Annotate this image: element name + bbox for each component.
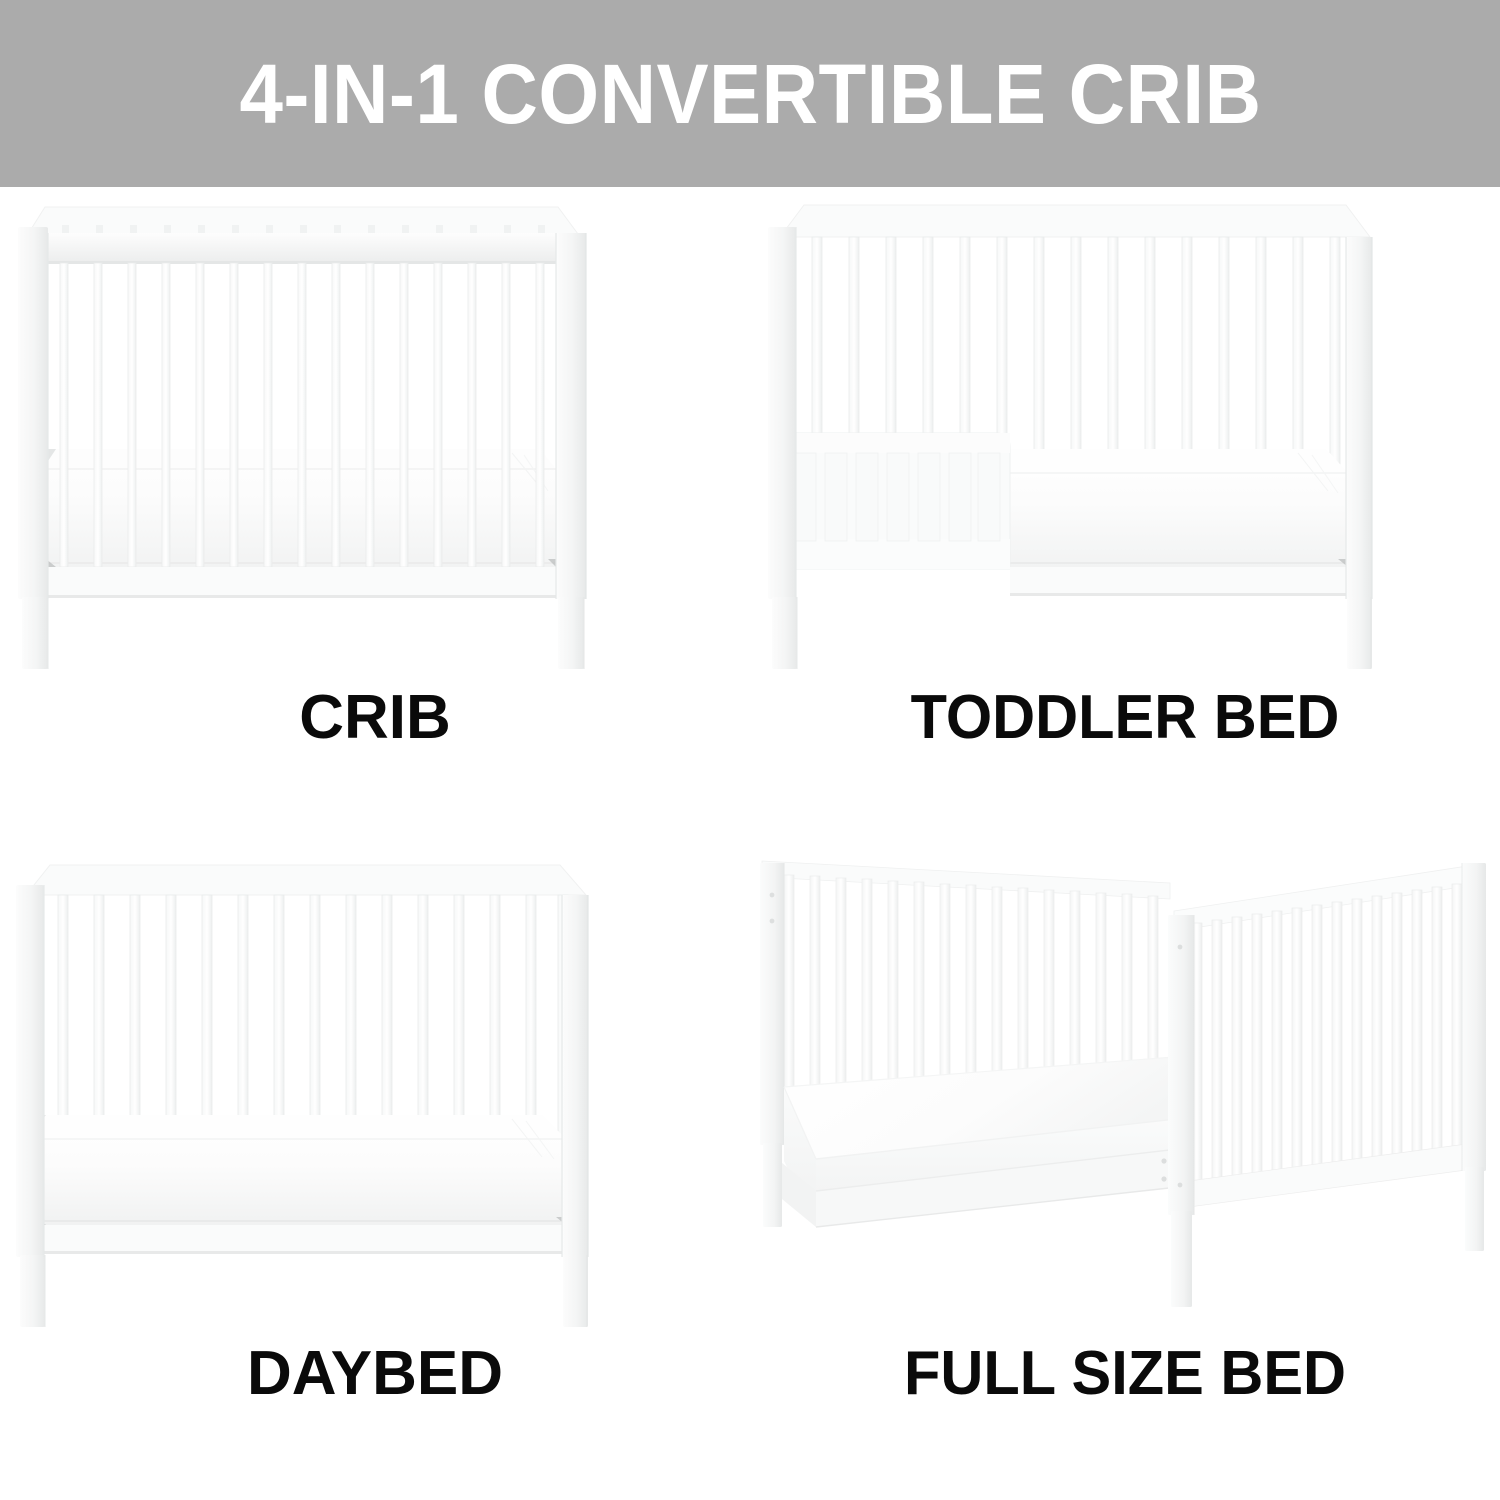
toddler-bed-illustration — [750, 187, 1500, 687]
full-size-bed-illustration — [750, 843, 1500, 1343]
caption-toddler-bed: TODDLER BED — [765, 687, 1485, 749]
configuration-grid: CRIB — [0, 187, 1500, 1500]
caption-crib: CRIB — [0, 687, 750, 749]
full-bed-footboard — [1168, 863, 1486, 1307]
caption-full-size-bed: FULL SIZE BED — [765, 1343, 1485, 1405]
crib-illustration — [0, 187, 750, 687]
caption-daybed: DAYBED — [0, 1343, 750, 1405]
page-title: 4-IN-1 CONVERTIBLE CRIB — [239, 52, 1261, 136]
config-panel-toddler-bed[interactable]: TODDLER BED — [750, 187, 1500, 843]
daybed-mattress — [34, 1115, 566, 1225]
daybed-illustration — [0, 843, 750, 1343]
toddler-guard-rail — [780, 433, 1010, 569]
config-panel-crib[interactable]: CRIB — [0, 187, 750, 843]
crib-front-slats — [60, 263, 544, 567]
config-panel-full-size-bed[interactable]: FULL SIZE BED — [750, 843, 1500, 1499]
config-panel-daybed[interactable]: DAYBED — [0, 843, 750, 1499]
header-banner: 4-IN-1 CONVERTIBLE CRIB — [0, 0, 1500, 187]
